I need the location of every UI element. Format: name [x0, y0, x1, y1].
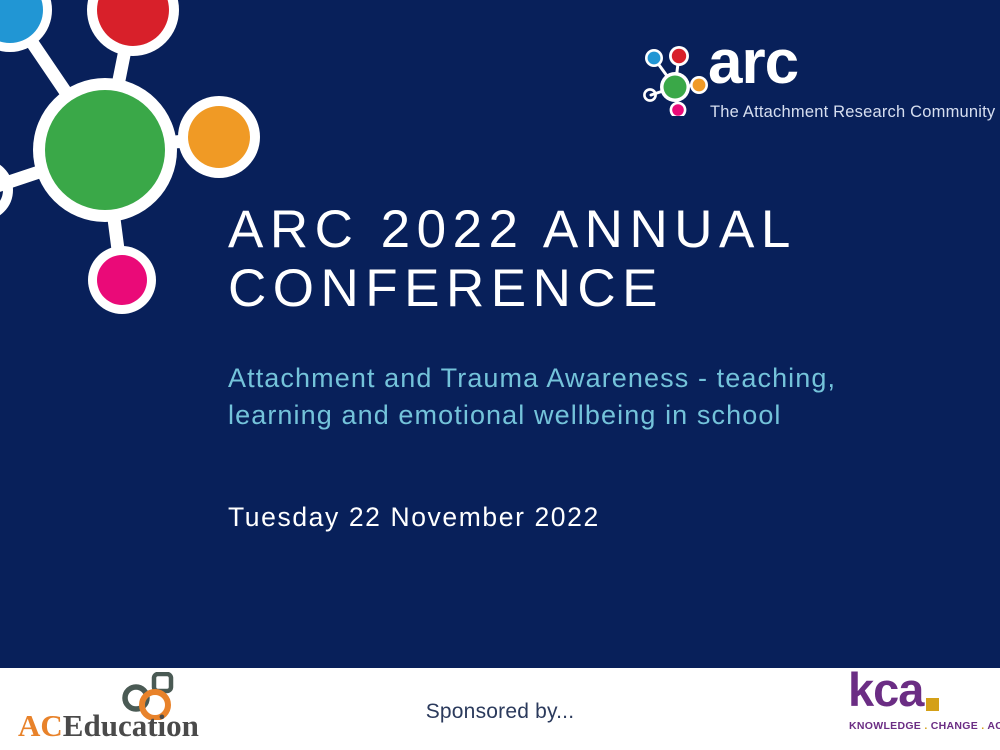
kca-wordmark: kca: [848, 666, 923, 713]
page-title: ARC 2022 ANNUAL CONFERENCE: [228, 200, 928, 319]
green-node: [45, 90, 165, 210]
footer-band: ACEducation Sponsored by... kca KNOWLEDG…: [0, 668, 1000, 750]
conference-date: Tuesday 22 November 2022: [228, 502, 600, 533]
red-node: [97, 0, 169, 46]
outline-node: [0, 164, 8, 216]
magenta-node: [97, 255, 147, 305]
red-node-ring: [87, 0, 179, 56]
magenta-node-ring: [88, 246, 156, 314]
molecule-links: [0, 10, 219, 280]
slide-background: arc The Attachment Research Community AR…: [0, 0, 1000, 668]
arc-logo: arc The Attachment Research Community: [640, 42, 980, 122]
conference-title-slide: arc The Attachment Research Community AR…: [0, 0, 1000, 750]
arc-tagline: The Attachment Research Community: [710, 103, 995, 122]
kca-logo: kca KNOWLEDGE . CHANGE . ACTION: [848, 670, 988, 744]
kca-tagline-sep-1: .: [921, 720, 931, 732]
blue-node: [0, 0, 43, 43]
arc-red-node: [672, 49, 686, 63]
headline-block: ARC 2022 ANNUAL CONFERENCE: [228, 200, 928, 319]
kca-tagline-sep-2: .: [978, 720, 987, 732]
arc-orange-node: [693, 79, 706, 92]
arc-magenta-node: [672, 104, 684, 116]
kca-tagline: KNOWLEDGE . CHANGE . ACTION: [849, 720, 1000, 732]
orange-node: [188, 106, 250, 168]
arc-green-node: [664, 76, 687, 99]
kca-dot-icon: [926, 698, 939, 711]
arc-blue-node: [648, 52, 661, 65]
kca-tagline-knowledge: KNOWLEDGE: [849, 720, 921, 732]
conference-subtitle: Attachment and Trauma Awareness - teachi…: [228, 360, 908, 434]
green-node-ring: [33, 78, 177, 222]
arc-network-logo-icon: [640, 42, 712, 116]
kca-tagline-action: ACTION: [987, 720, 1000, 732]
orange-node-ring: [178, 96, 260, 178]
arc-wordmark: arc: [708, 32, 798, 94]
blue-node-ring: [0, 0, 52, 52]
kca-tagline-change: CHANGE: [931, 720, 978, 732]
